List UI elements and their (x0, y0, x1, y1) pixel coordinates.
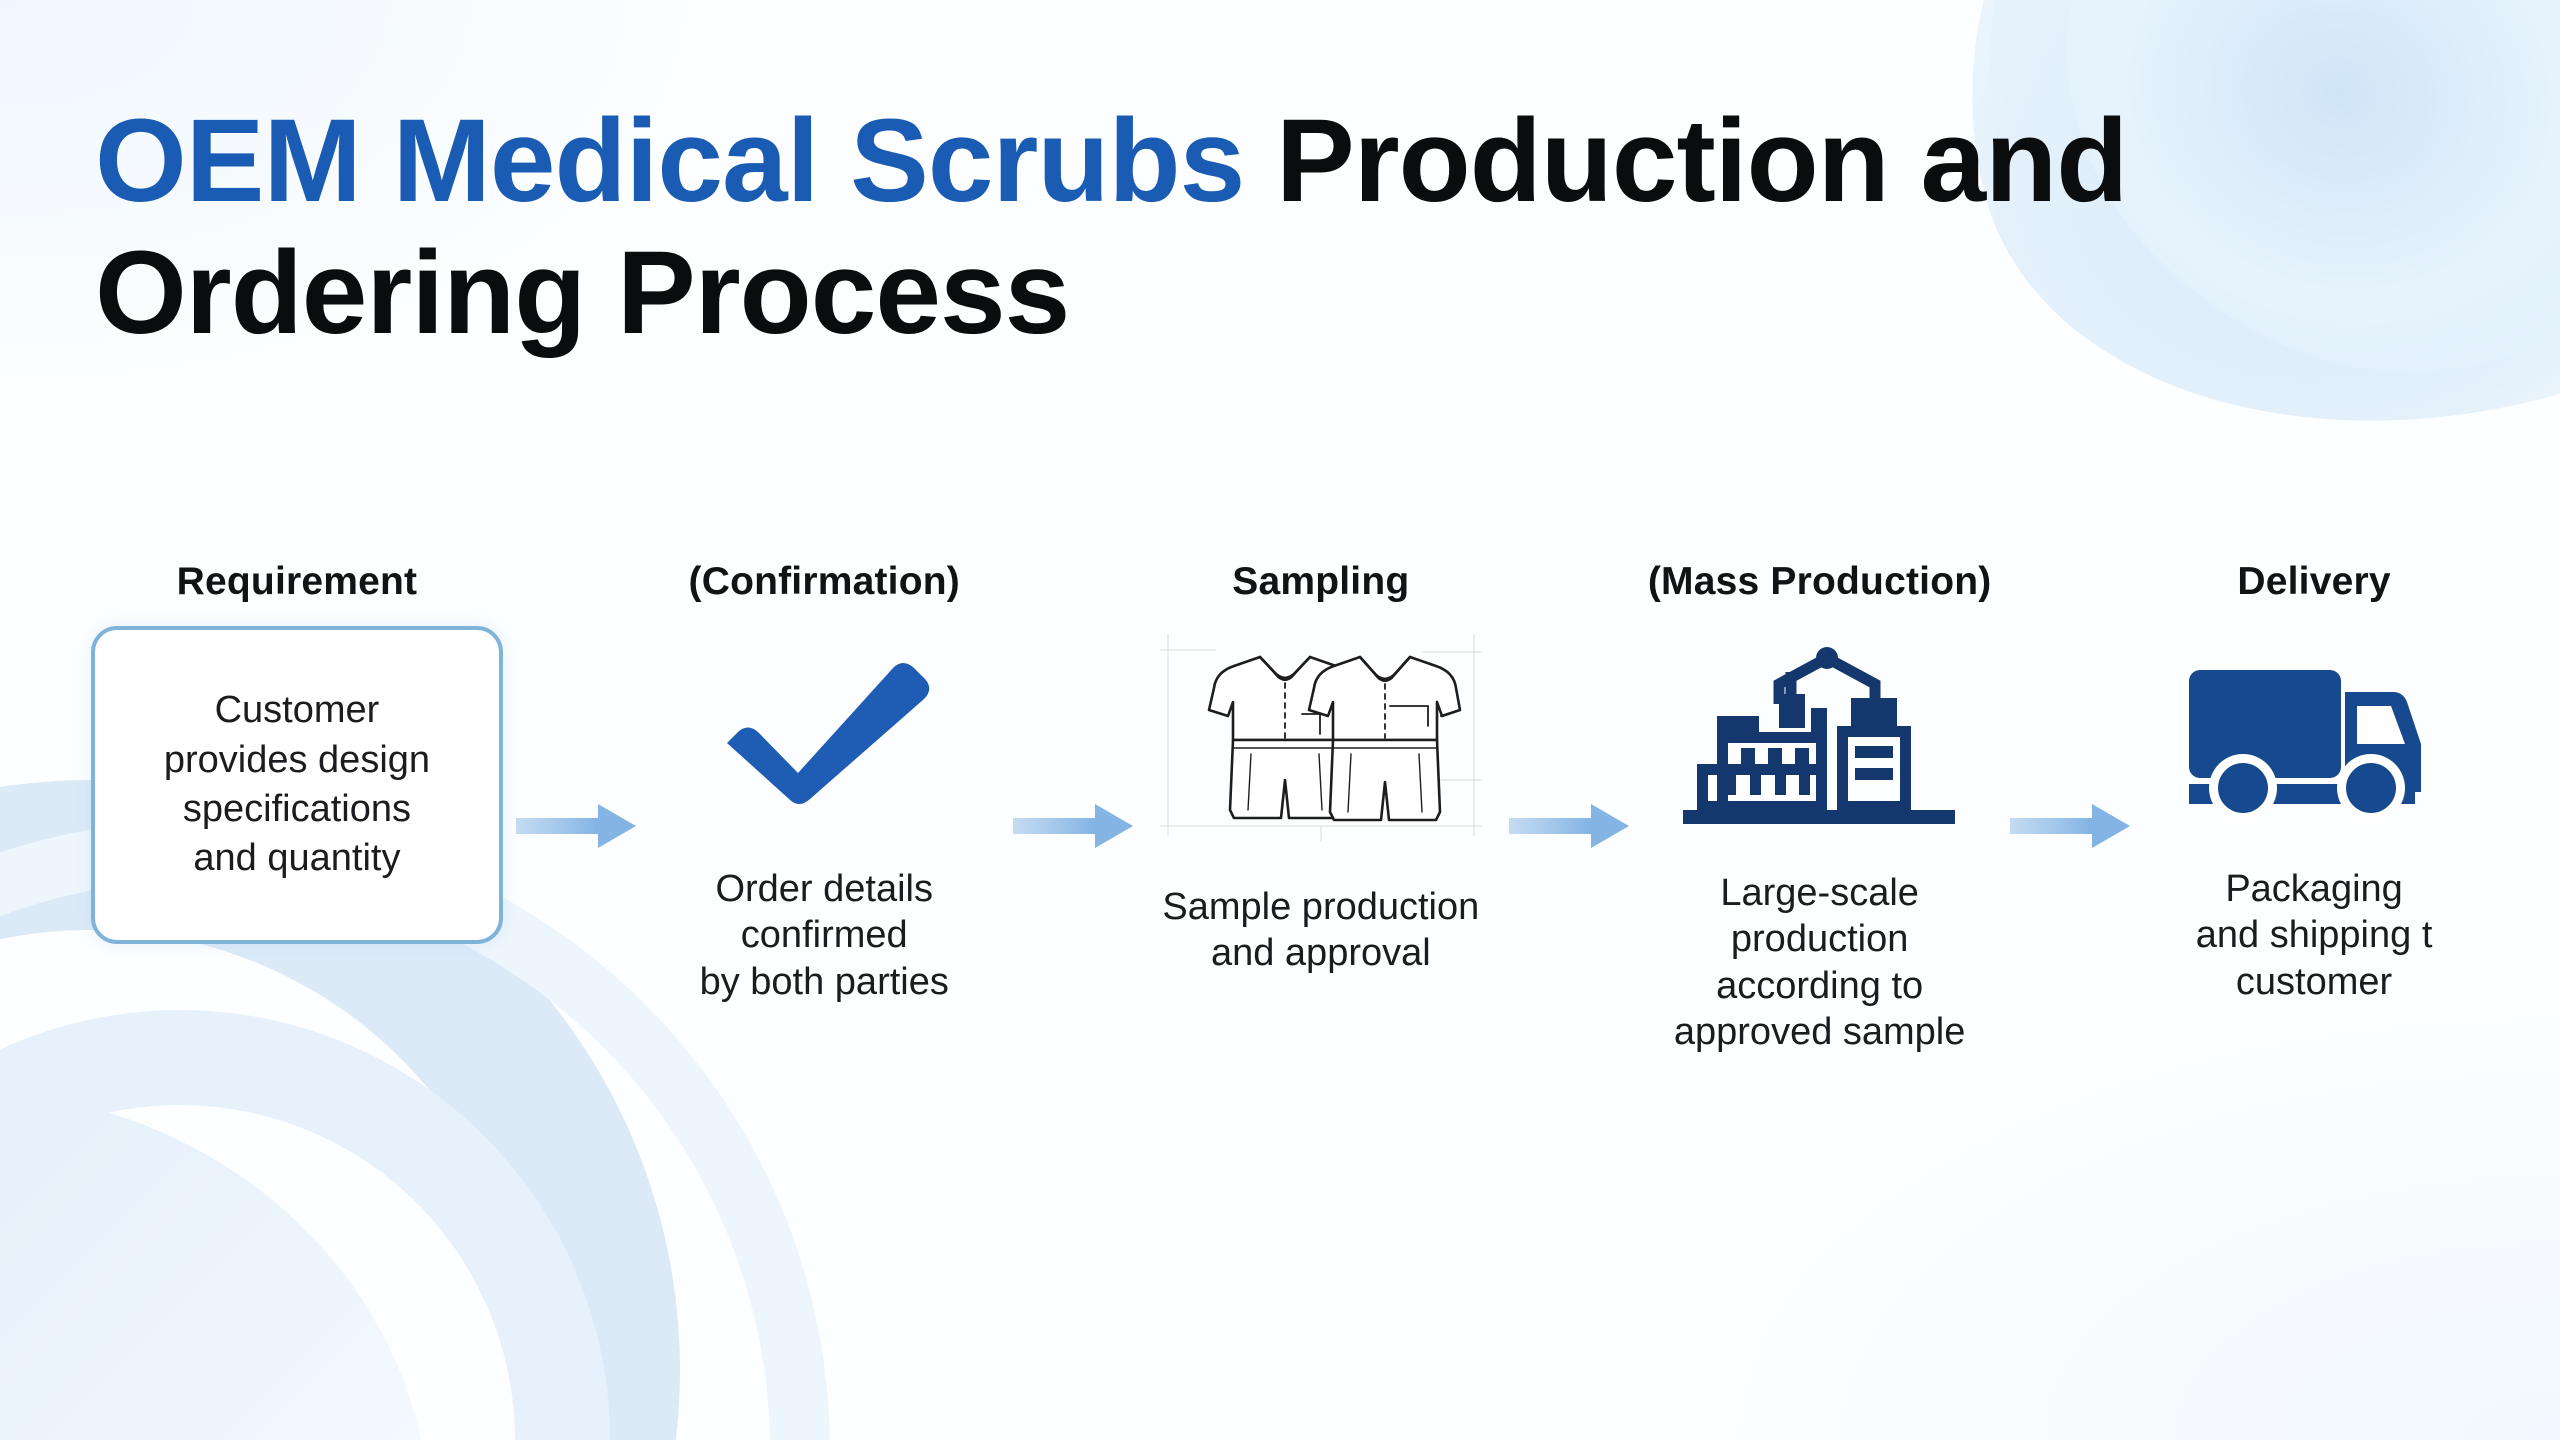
process-step-mass-production: (Mass Production) (1629, 560, 2010, 1055)
step-description: Order details confirmed by both parties (700, 866, 949, 1005)
delivery-truck-icon (2179, 652, 2449, 822)
step-description: Customer provides design specifications … (164, 686, 430, 884)
process-step-sampling: Sampling (1133, 560, 1510, 977)
factory-icon (1675, 642, 1965, 832)
step-heading: Requirement (177, 560, 418, 604)
step-visual (1156, 632, 1486, 842)
process-step-delivery: Delivery (2130, 560, 2498, 1005)
flow-arrow-1 (516, 804, 636, 848)
requirement-box: Customer provides design specifications … (91, 626, 503, 944)
arrow-head-icon (1591, 804, 1629, 848)
step-visual (709, 632, 939, 832)
arrow-head-icon (1095, 804, 1133, 848)
arrow-shaft (2010, 818, 2096, 834)
arrow-head-icon (598, 804, 636, 848)
arrow-shaft (1013, 818, 1099, 834)
process-step-confirmation: (Confirmation) Order details confirmed b… (636, 560, 1013, 1005)
title-highlight: OEM Medical Scrubs (95, 95, 1244, 227)
step-heading: (Mass Production) (1648, 560, 1992, 604)
scrubs-sketch-icon (1156, 630, 1486, 845)
flow-arrow-2 (1013, 804, 1133, 848)
step-description: Packaging and shipping t customer (2196, 866, 2433, 1005)
arrow-shaft (516, 818, 602, 834)
step-description: Sample production and approval (1162, 884, 1479, 977)
step-description: Large-scale production according to appr… (1674, 870, 1966, 1055)
arrow-shaft (1509, 818, 1595, 834)
process-step-requirement: Requirement Customer provides design spe… (78, 560, 516, 944)
slide-canvas: OEM Medical Scrubs Production and Orderi… (0, 0, 2560, 1440)
arrow-head-icon (2092, 804, 2130, 848)
step-heading: (Confirmation) (689, 560, 960, 604)
step-heading: Sampling (1232, 560, 1409, 604)
page-title: OEM Medical Scrubs Production and Orderi… (95, 95, 2435, 359)
flow-arrow-3 (1509, 804, 1629, 848)
check-icon (709, 647, 939, 817)
title-rest: Production and (1244, 95, 2127, 227)
process-flow: Requirement Customer provides design spe… (78, 560, 2498, 1055)
step-visual (1675, 632, 1965, 842)
bottom-left-fill (0, 1090, 430, 1440)
step-heading: Delivery (2237, 560, 2390, 604)
title-line-2: Ordering Process (95, 227, 1069, 359)
flow-arrow-4 (2010, 804, 2130, 848)
step-visual (2179, 632, 2449, 842)
